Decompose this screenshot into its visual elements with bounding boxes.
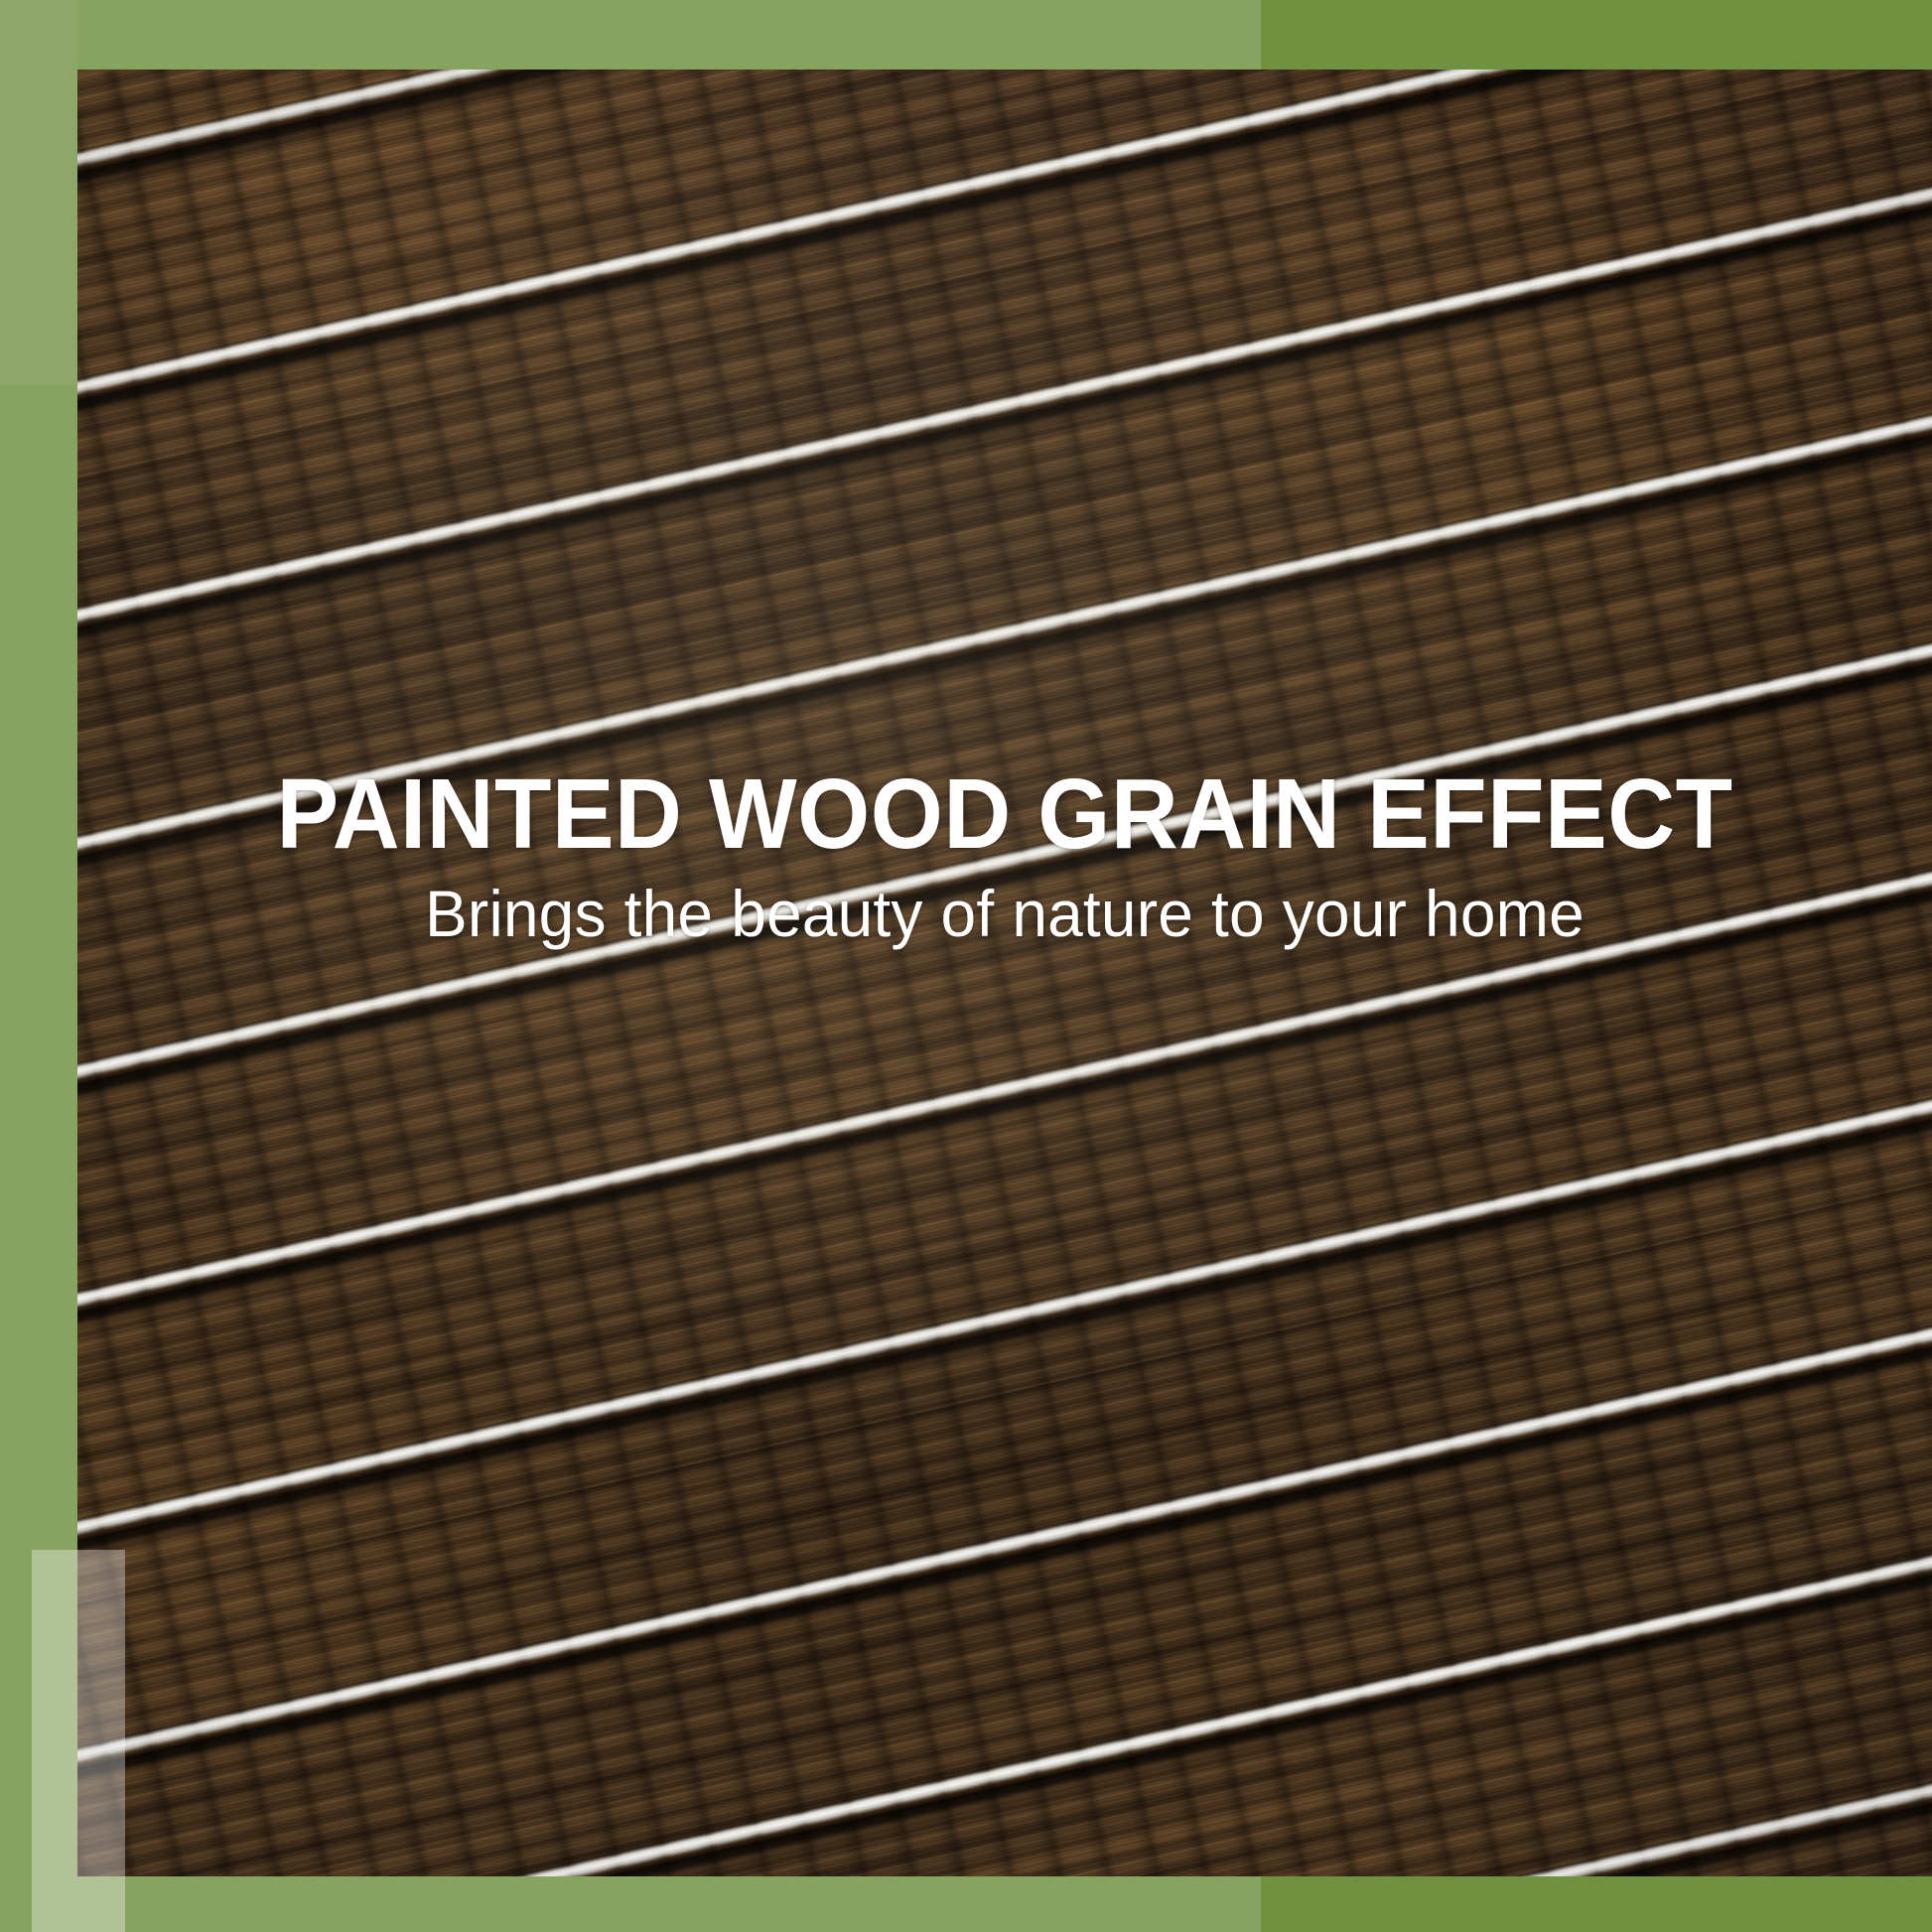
- wood-photo: [77, 69, 1932, 1876]
- poster-canvas: PAINTED WOOD GRAIN EFFECT Brings the bea…: [0, 0, 1932, 1932]
- green-frame-upper-left-wash: [0, 0, 77, 385]
- wood-groove-flecks: [77, 69, 1932, 1876]
